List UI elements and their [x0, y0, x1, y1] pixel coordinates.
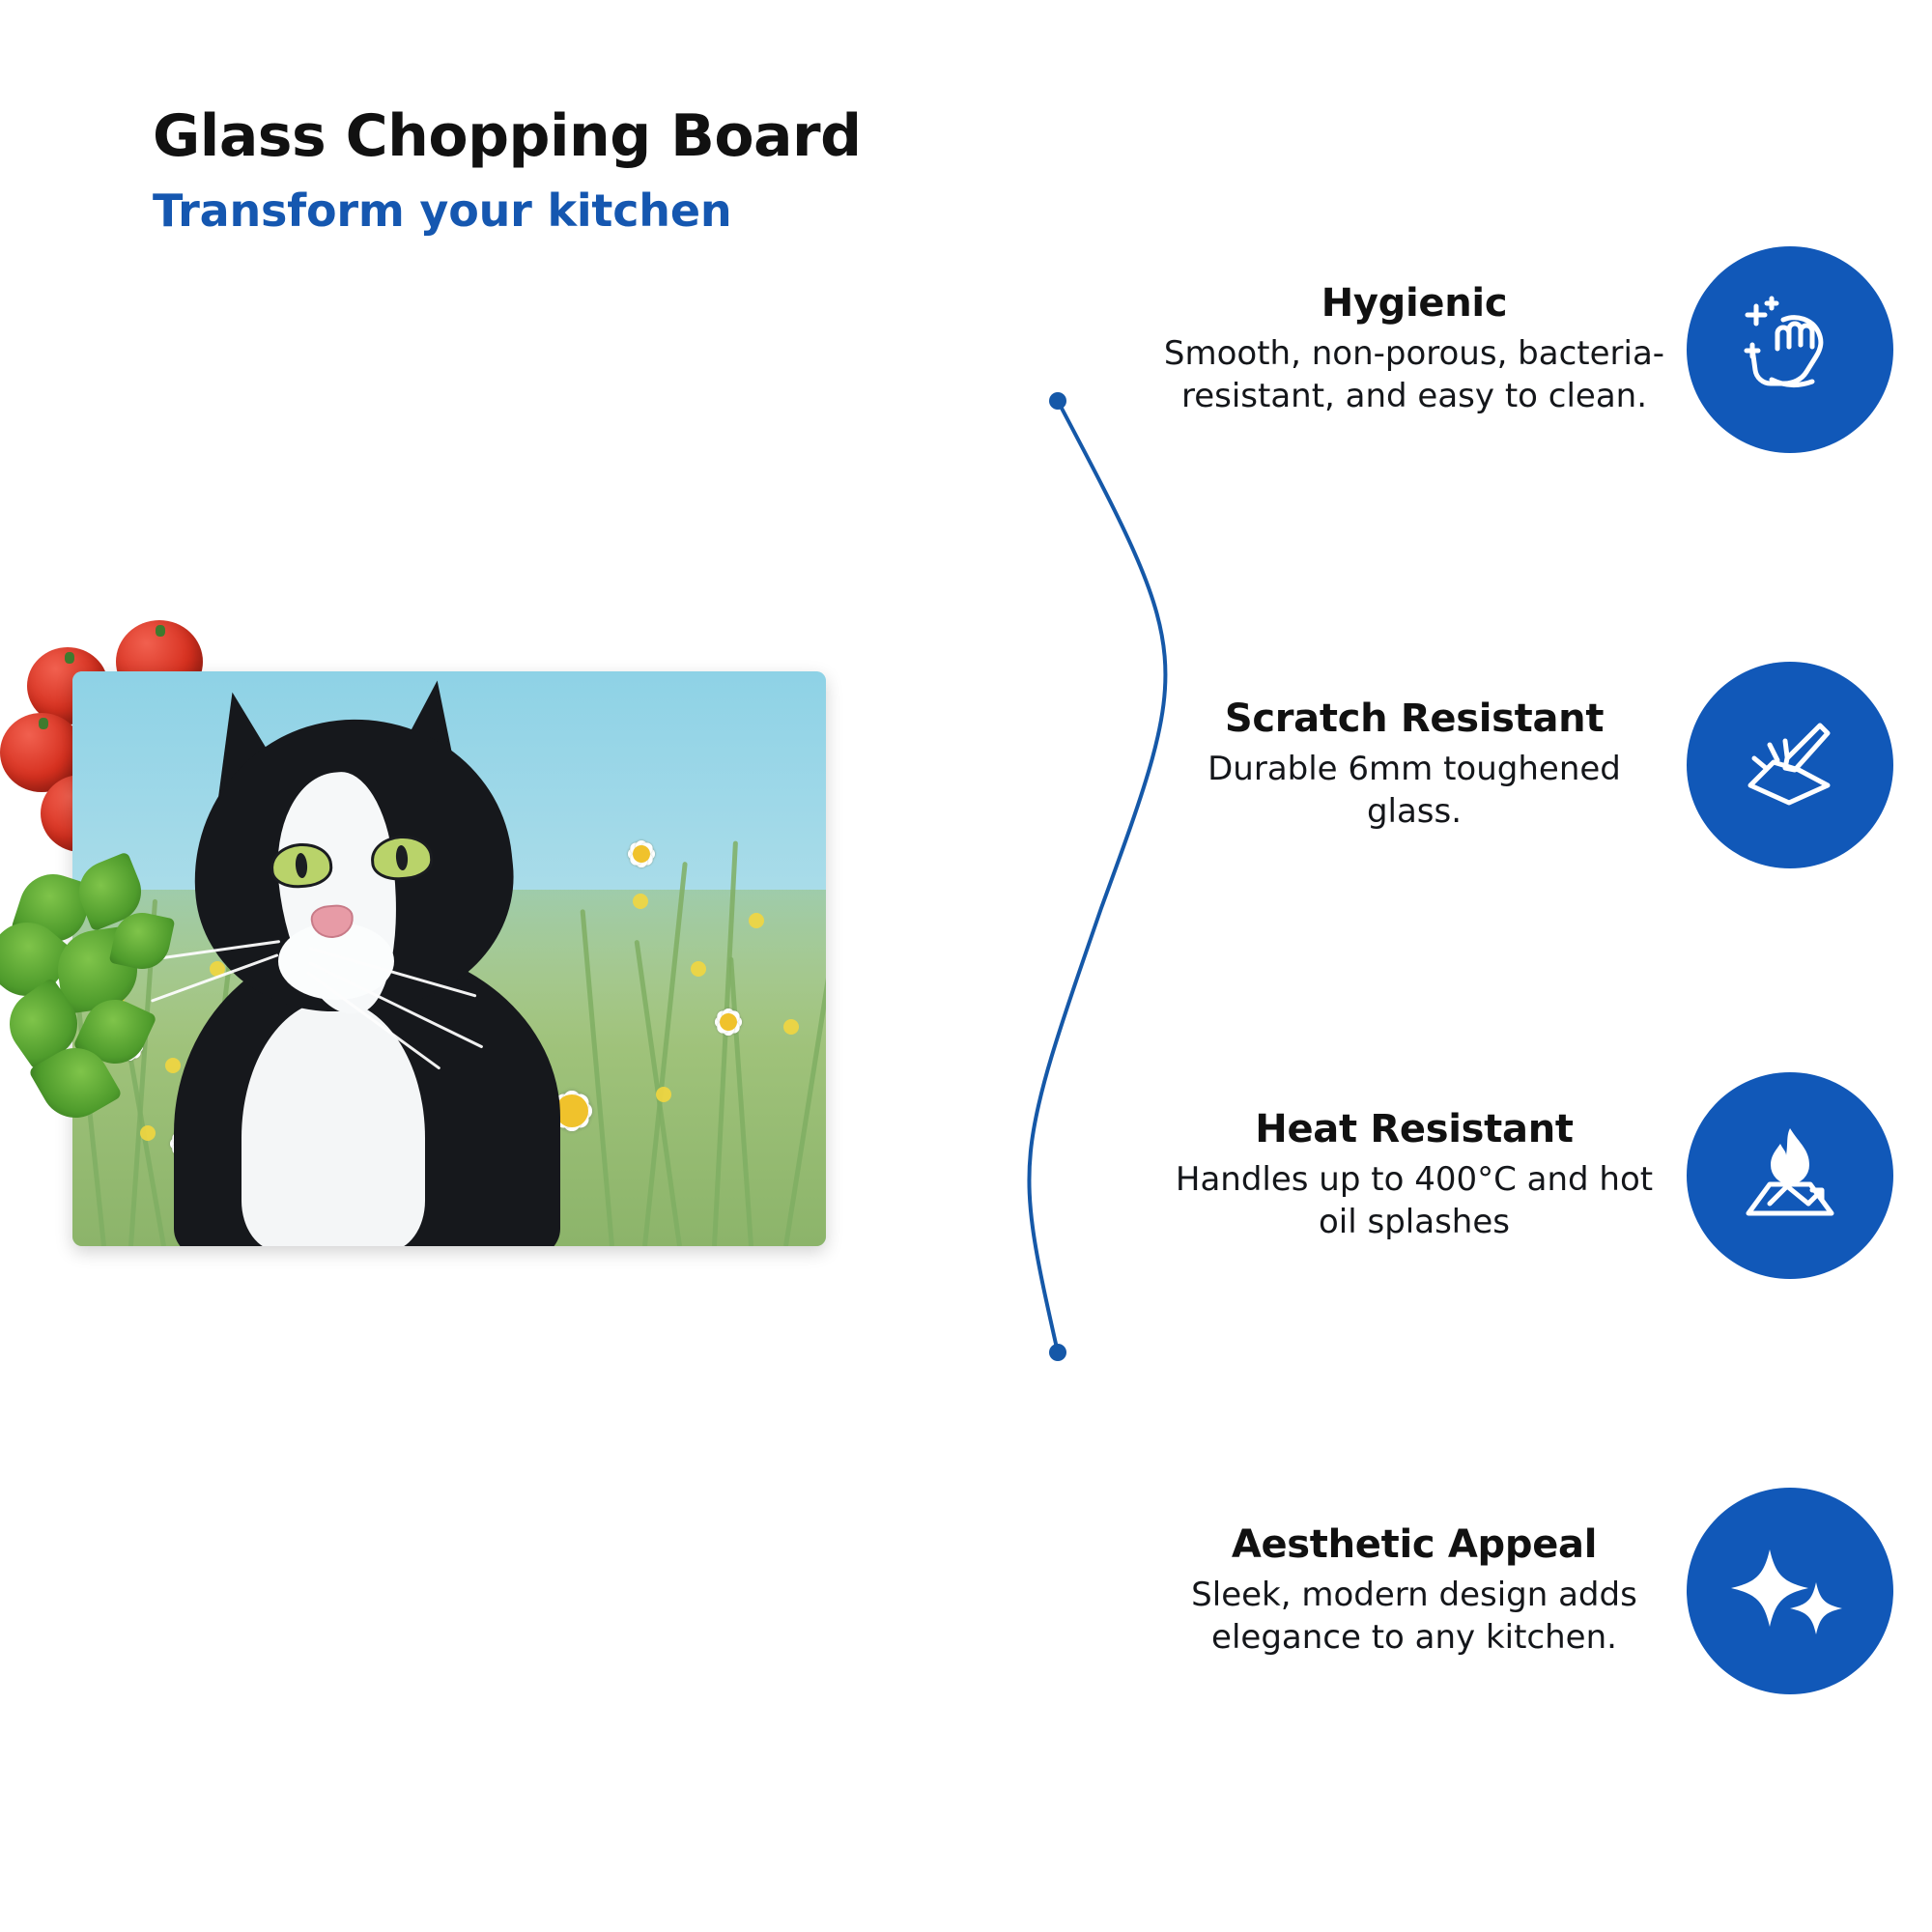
page-subtitle: Transform your kitchen — [153, 185, 862, 237]
feature-item-heat-resistant: Heat Resistant Handles up to 400°C and h… — [1043, 1072, 1893, 1279]
daisy-flower — [613, 826, 669, 882]
yellow-flower — [633, 894, 648, 909]
wipe-clean-sparkle-icon — [1687, 246, 1893, 453]
feature-title: Scratch Resistant — [1163, 696, 1665, 741]
feature-title: Hygienic — [1163, 281, 1665, 326]
feature-description: Handles up to 400°C and hot oil splashes — [1163, 1159, 1665, 1243]
sparkles-icon — [1687, 1488, 1893, 1694]
daisy-flower — [687, 980, 770, 1064]
yellow-flower — [749, 913, 764, 928]
product-image — [0, 599, 869, 1275]
feature-text: Heat Resistant Handles up to 400°C and h… — [1163, 1107, 1687, 1243]
cat-illustration — [164, 681, 580, 1246]
flame-heat-icon — [1687, 1072, 1893, 1279]
feature-item-scratch-resistant: Scratch Resistant Durable 6mm toughened … — [1043, 662, 1893, 868]
feature-text: Hygienic Smooth, non-porous, bacteria-re… — [1163, 281, 1687, 417]
header: Glass Chopping Board Transform your kitc… — [153, 106, 862, 237]
yellow-flower — [783, 1019, 799, 1035]
knife-scratch-surface-icon — [1687, 662, 1893, 868]
feature-item-hygienic: Hygienic Smooth, non-porous, bacteria-re… — [1043, 246, 1893, 453]
feature-description: Sleek, modern design adds elegance to an… — [1163, 1575, 1665, 1659]
feature-title: Heat Resistant — [1163, 1107, 1665, 1151]
page-title: Glass Chopping Board — [153, 106, 862, 167]
feature-title: Aesthetic Appeal — [1163, 1522, 1665, 1567]
feature-text: Scratch Resistant Durable 6mm toughened … — [1163, 696, 1687, 833]
feature-text: Aesthetic Appeal Sleek, modern design ad… — [1163, 1522, 1687, 1659]
yellow-flower — [656, 1087, 671, 1102]
feature-description: Durable 6mm toughened glass. — [1163, 749, 1665, 833]
feature-description: Smooth, non-porous, bacteria-resistant, … — [1163, 333, 1665, 417]
yellow-flower — [691, 961, 706, 977]
feature-item-aesthetic-appeal: Aesthetic Appeal Sleek, modern design ad… — [1043, 1488, 1893, 1694]
parsley-garnish — [0, 855, 203, 1135]
